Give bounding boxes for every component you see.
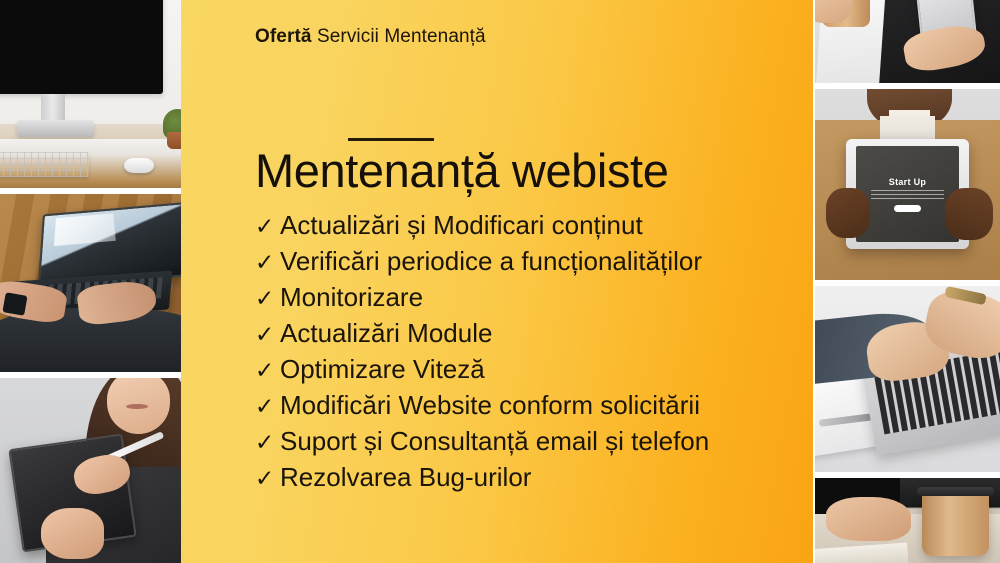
list-item-label: Optimizare Viteză — [280, 352, 485, 387]
poster-canvas: Start Up — [0, 0, 1000, 563]
check-icon: ✓ — [255, 209, 280, 244]
list-item-label: Rezolvarea Bug-urilor — [280, 460, 531, 495]
check-icon: ✓ — [255, 461, 280, 496]
check-icon: ✓ — [255, 245, 280, 280]
check-icon: ✓ — [255, 317, 280, 352]
list-item-label: Suport și Consultanță email și telefon — [280, 424, 709, 459]
headline-rule — [348, 138, 434, 141]
photo-hands-laptop-notebook — [815, 286, 1000, 472]
tablet-screen: Start Up — [856, 146, 959, 241]
yellow-content-panel: Ofertă Servicii Mentenanță Mentenanță we… — [181, 0, 813, 563]
page-title: Mentenanță webiste — [255, 143, 668, 198]
list-item: ✓ Optimizare Viteză — [255, 352, 800, 388]
kicker-light-word: Servicii Mentenanță — [317, 26, 486, 47]
kicker-heading: Ofertă Servicii Mentenanță — [255, 26, 486, 48]
check-icon: ✓ — [255, 389, 280, 424]
photo-desktop-monitor-keyboard — [0, 0, 185, 188]
list-item: ✓ Actualizări și Modificari conținut — [255, 208, 800, 244]
tablet-screen-title: Start Up — [889, 177, 926, 187]
check-icon: ✓ — [255, 353, 280, 388]
tablet-screen-body-text — [871, 190, 945, 201]
photo-woman-with-tablet — [0, 378, 185, 563]
services-list: ✓ Actualizări și Modificari conținut ✓ V… — [255, 208, 800, 496]
list-item-label: Modificări Website conform solicitării — [280, 388, 700, 423]
list-item: ✓ Rezolvarea Bug-urilor — [255, 460, 800, 496]
list-item: ✓ Modificări Website conform solicitării — [255, 388, 800, 424]
list-item: ✓ Monitorizare — [255, 280, 800, 316]
photo-hands-coffee-cup — [815, 478, 1000, 563]
kicker-strong-word: Ofertă — [255, 26, 312, 47]
photo-businessman-coffee-phone — [815, 0, 1000, 83]
list-item: ✓ Actualizări Module — [255, 316, 800, 352]
check-icon: ✓ — [255, 425, 280, 460]
photo-man-holding-tablet-startup: Start Up — [815, 89, 1000, 280]
left-photo-column — [0, 0, 185, 563]
list-item-label: Monitorizare — [280, 280, 423, 315]
list-item-label: Verificări periodice a funcționalitățilo… — [280, 244, 702, 279]
check-icon: ✓ — [255, 281, 280, 316]
photo-hands-typing-laptop — [0, 194, 185, 372]
list-item-label: Actualizări Module — [280, 316, 492, 351]
list-item: ✓ Verificări periodice a funcționalități… — [255, 244, 800, 280]
right-photo-column: Start Up — [815, 0, 1000, 563]
list-item: ✓ Suport și Consultanță email și telefon — [255, 424, 800, 460]
tablet-screen-button — [894, 205, 921, 212]
list-item-label: Actualizări și Modificari conținut — [280, 208, 643, 243]
